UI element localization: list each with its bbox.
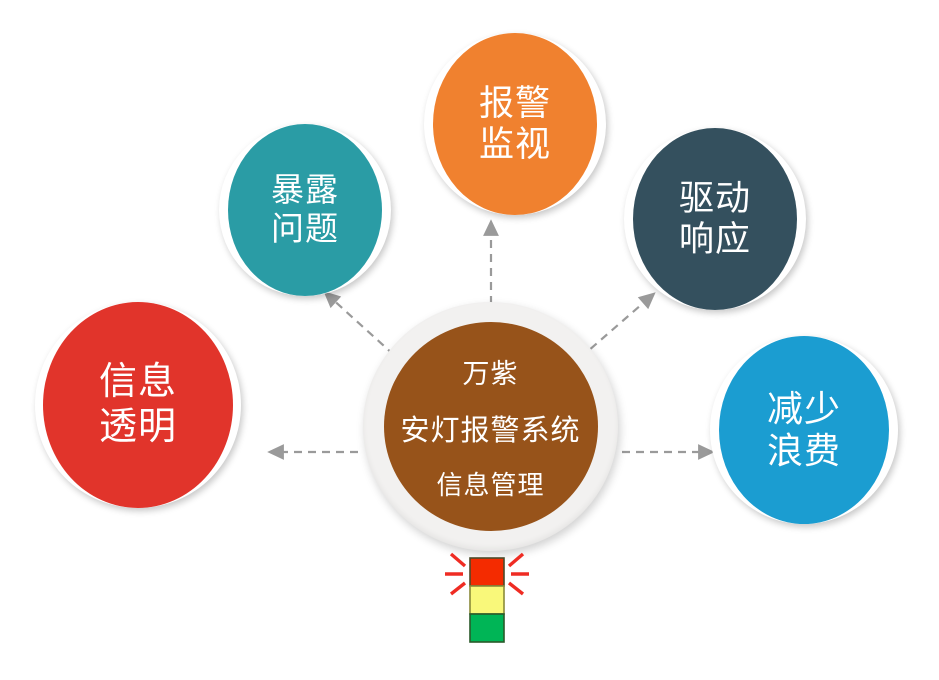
- node-drive-response-disc: 驱动 响应: [633, 128, 797, 310]
- node-drive-response[interactable]: 驱动 响应: [624, 128, 806, 310]
- node-reduce-waste-line-2: 浪费: [767, 430, 841, 471]
- center-hub-disc: 万紫 安灯报警系统 信息管理: [384, 322, 598, 531]
- node-alarm-monitor-disc: 报警 监视: [433, 33, 597, 215]
- node-reduce-waste-line-1: 减少: [767, 388, 841, 429]
- center-hub-line-3: 信息管理: [436, 465, 544, 502]
- node-alarm-monitor-line-2: 监视: [479, 125, 551, 164]
- center-hub-line-2: 安灯报警系统: [400, 407, 580, 449]
- node-expose-problem-line-1: 暴露: [271, 171, 339, 208]
- node-expose-problem-line-2: 问题: [271, 210, 339, 247]
- center-hub-line-1: 万紫: [463, 352, 519, 391]
- node-alarm-monitor[interactable]: 报警 监视: [424, 33, 606, 215]
- node-reduce-waste-disc: 减少 浪费: [719, 336, 889, 524]
- node-expose-problem[interactable]: 暴露 问题: [219, 124, 391, 296]
- node-information-transparency-disc: 信息 透明: [43, 302, 233, 508]
- node-alarm-monitor-line-1: 报警: [479, 84, 551, 123]
- center-hub-node[interactable]: 万紫 安灯报警系统 信息管理: [363, 302, 618, 551]
- node-information-transparency[interactable]: 信息 透明: [35, 302, 241, 508]
- node-expose-problem-disc: 暴露 问题: [228, 124, 382, 296]
- diagram-canvas: 万紫 安灯报警系统 信息管理 报警 监视 暴露 问题 驱动 响应: [0, 0, 939, 680]
- node-drive-response-line-2: 响应: [679, 220, 751, 259]
- node-information-transparency-line-1: 信息: [99, 361, 177, 403]
- andon-green-light: [470, 614, 504, 642]
- node-reduce-waste[interactable]: 减少 浪费: [710, 336, 898, 524]
- arrow-to-expose-problem: [330, 297, 394, 355]
- andon-light-tower-icon: [432, 545, 542, 650]
- node-drive-response-line-1: 驱动: [679, 179, 751, 218]
- andon-red-light: [470, 558, 504, 586]
- andon-yellow-light: [470, 586, 504, 614]
- node-information-transparency-line-2: 透明: [99, 406, 177, 448]
